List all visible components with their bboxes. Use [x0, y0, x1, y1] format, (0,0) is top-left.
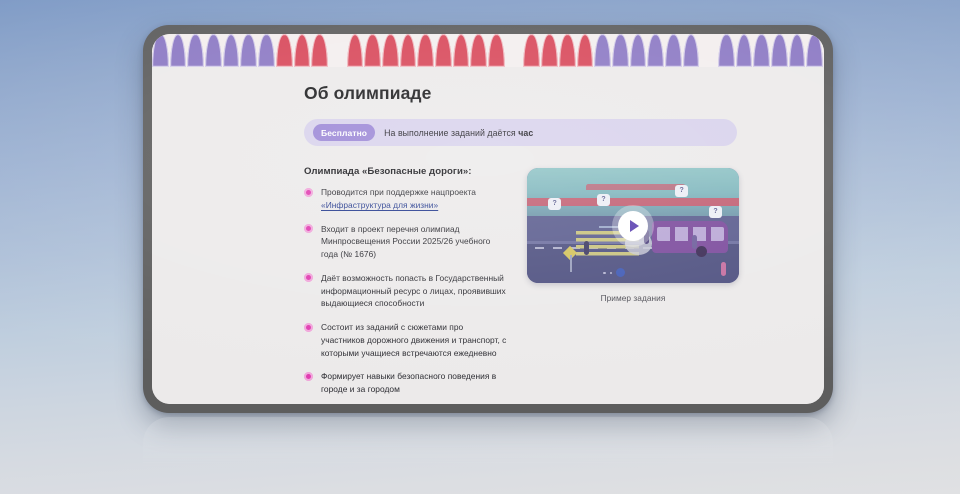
bullet-icon — [304, 323, 313, 332]
arch-shape — [647, 34, 664, 67]
video-column: ? ? ? ? Приме — [527, 166, 739, 404]
arch-shape — [470, 34, 487, 67]
arch-shape — [594, 34, 611, 67]
feature-item: Входит в проект перечня олимпиад Минпрос… — [304, 223, 507, 261]
page-title: Об олимпиаде — [304, 83, 739, 104]
arch-shape — [417, 34, 434, 67]
arch-gap — [506, 34, 523, 67]
feature-text: Формирует навыки безопасного поведения в… — [321, 371, 496, 394]
feature-text: Проводится при поддержке нацпроекта — [321, 187, 476, 197]
bullet-icon — [304, 372, 313, 381]
arch-shape — [170, 34, 187, 67]
feature-text: Состоит из заданий с сюжетами про участн… — [321, 322, 506, 358]
arch-shape — [559, 34, 576, 67]
features-column: Олимпиада «Безопасные дороги»: Проводитс… — [304, 166, 507, 404]
feature-item: Проводится при поддержке нацпроекта «Инф… — [304, 186, 507, 212]
arch-shape — [187, 34, 204, 67]
bullet-icon — [304, 224, 313, 233]
bullet-icon — [304, 273, 313, 282]
scene: Об олимпиаде Бесплатно На выполнение зад… — [0, 0, 960, 494]
arch-shape — [364, 34, 381, 67]
feature-link[interactable]: «Инфраструктура для жизни» — [321, 200, 438, 210]
info-bar-text: На выполнение заданий даётся час — [384, 128, 533, 138]
question-bubble-2: ? — [597, 194, 610, 206]
feature-item: Даёт возможность попасть в Государственн… — [304, 272, 507, 310]
arch-shape — [718, 34, 735, 67]
sign-post — [570, 255, 572, 271]
arch-shape — [523, 34, 540, 67]
arch-shape — [541, 34, 558, 67]
video-thumbnail[interactable]: ? ? ? ? — [527, 168, 739, 283]
arch-shape — [152, 34, 169, 67]
arch-shape — [223, 34, 240, 67]
arch-shape — [205, 34, 222, 67]
arch-gap — [329, 34, 346, 67]
free-badge: Бесплатно — [313, 124, 375, 141]
arch-shape — [311, 34, 328, 67]
feature-item: Формирует навыки безопасного поведения в… — [304, 370, 507, 396]
features-title: Олимпиада «Безопасные дороги»: — [304, 166, 507, 177]
arch-shape — [294, 34, 311, 67]
progress-dots — [603, 268, 625, 277]
info-bar-text-strong: час — [518, 128, 533, 138]
pedestrian-1 — [584, 241, 589, 255]
feature-text: Даёт возможность попасть в Государственн… — [321, 273, 506, 309]
arch-shape — [435, 34, 452, 67]
pedestrian-4 — [721, 262, 726, 276]
arch-shape — [806, 34, 823, 67]
tablet-device: Об олимпиаде Бесплатно На выполнение зад… — [143, 25, 833, 413]
arch-shape — [789, 34, 806, 67]
overpass-shape — [586, 184, 688, 190]
pedestrian-3 — [692, 235, 697, 249]
arch-gap — [700, 34, 717, 67]
progress-dot — [610, 272, 613, 275]
arch-shape — [683, 34, 700, 67]
feature-text: Входит в проект перечня олимпиад Минпрос… — [321, 224, 490, 260]
arch-shape — [400, 34, 417, 67]
arch-shape — [488, 34, 505, 67]
question-bubble-4: ? — [709, 206, 722, 218]
question-bubble-3: ? — [675, 185, 688, 197]
info-bar: Бесплатно На выполнение заданий даётся ч… — [304, 119, 737, 146]
bullet-icon — [304, 188, 313, 197]
arch-shape — [276, 34, 293, 67]
play-icon[interactable] — [618, 211, 648, 241]
arch-shape — [577, 34, 594, 67]
arch-shape — [753, 34, 770, 67]
tablet-screen: Об олимпиаде Бесплатно На выполнение зад… — [152, 34, 824, 404]
bus-illustration — [652, 221, 728, 253]
page-content: Об олимпиаде Бесплатно На выполнение зад… — [152, 67, 824, 404]
arch-shape — [612, 34, 629, 67]
progress-dot-active — [616, 268, 625, 277]
arch-shape — [630, 34, 647, 67]
arch-shape — [382, 34, 399, 67]
arch-shape — [240, 34, 257, 67]
video-caption: Пример задания — [527, 293, 739, 303]
arch-shape — [453, 34, 470, 67]
tablet-reflection — [143, 417, 833, 494]
bus-windows — [657, 227, 724, 241]
features-list: Проводится при поддержке нацпроекта «Инф… — [304, 186, 507, 404]
arch-shape — [736, 34, 753, 67]
info-bar-text-prefix: На выполнение заданий даётся — [384, 128, 518, 138]
arch-shape — [347, 34, 364, 67]
feature-item: Состоит из заданий с сюжетами про участн… — [304, 321, 507, 359]
arch-shape — [771, 34, 788, 67]
question-bubble-1: ? — [548, 198, 561, 210]
progress-dot — [603, 272, 606, 275]
arch-shape — [258, 34, 275, 67]
arch-shape — [665, 34, 682, 67]
decorative-arch-strip — [152, 34, 824, 67]
